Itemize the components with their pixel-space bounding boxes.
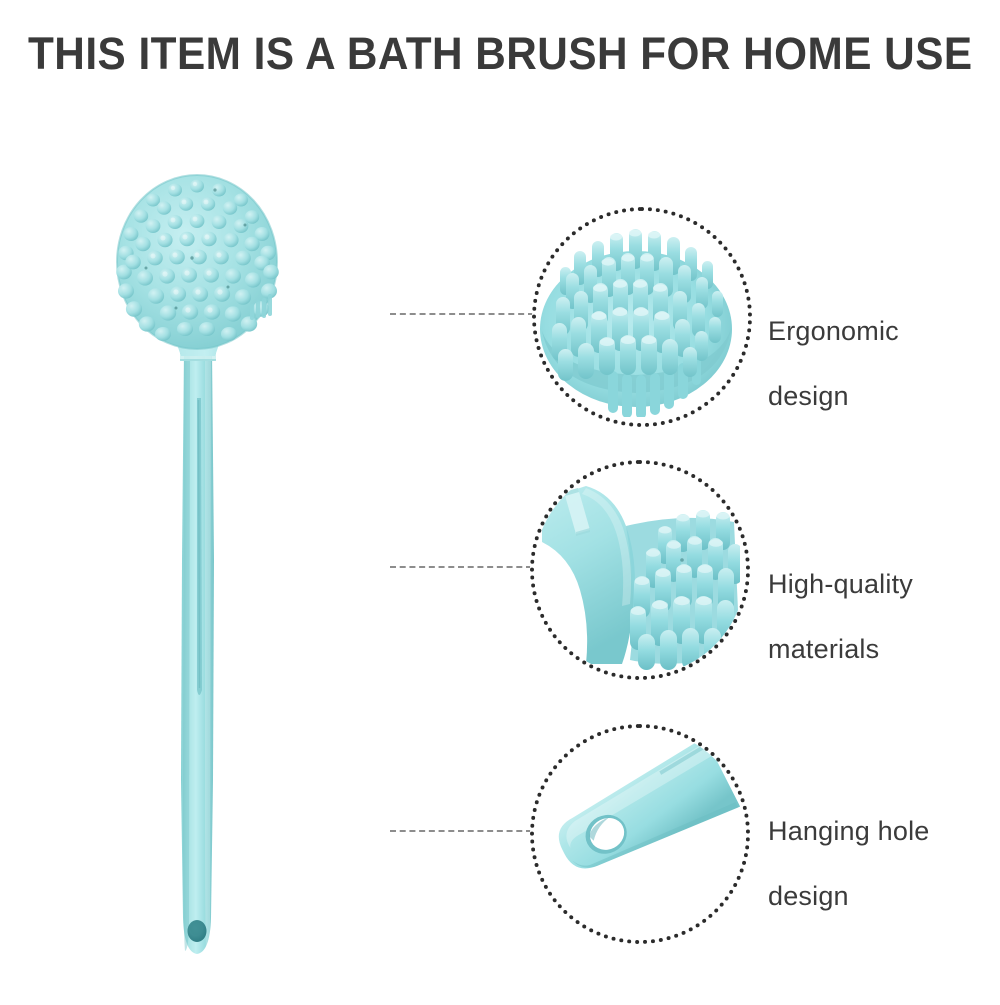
callout-circle-hanging-hole-design <box>530 724 750 944</box>
label-line-2: materials <box>768 633 913 665</box>
leader-line-2 <box>390 566 532 568</box>
leader-line-1 <box>390 313 534 315</box>
brush-handle <box>181 350 214 954</box>
label-line-2: design <box>768 880 930 912</box>
handle-end-closeup-image <box>534 728 746 940</box>
neck-junction-closeup-image <box>534 464 746 676</box>
infographic-canvas: THIS ITEM IS A BATH BRUSH FOR HOME USE <box>0 0 1000 1000</box>
product-image-bath-brush <box>0 0 420 1000</box>
callout-label-high-quality-materials: High-quality materials <box>768 536 913 698</box>
brush-head <box>116 175 279 349</box>
callout-label-ergonomic-design: Ergonomic design <box>768 283 899 445</box>
label-line-1: Hanging hole <box>768 815 930 847</box>
brush-head-closeup-image <box>536 211 748 423</box>
callout-circle-high-quality-materials <box>530 460 750 680</box>
callout-label-hanging-hole-design: Hanging hole design <box>768 783 930 945</box>
label-line-1: High-quality <box>768 568 913 600</box>
leader-line-3 <box>390 830 532 832</box>
label-line-2: design <box>768 380 899 412</box>
callout-circle-ergonomic-design <box>532 207 752 427</box>
label-line-1: Ergonomic <box>768 315 899 347</box>
